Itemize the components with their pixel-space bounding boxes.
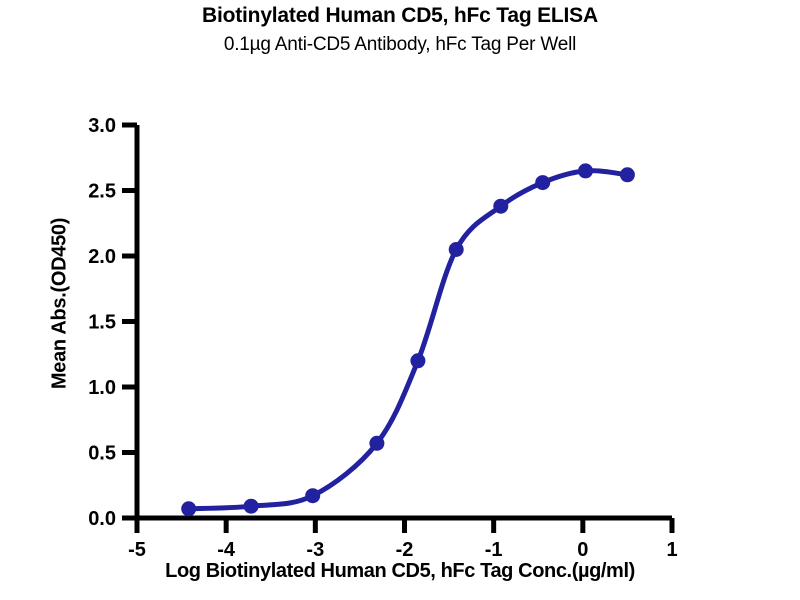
- x-axis-ticks: -5-4-3-2-101: [128, 518, 677, 561]
- x-tick-label: -1: [485, 539, 503, 561]
- data-point: [578, 163, 593, 178]
- y-axis-ticks: 0.00.51.01.52.02.53.0: [88, 115, 137, 530]
- data-point: [369, 436, 384, 451]
- data-point: [244, 499, 259, 514]
- y-tick-label: 2.5: [88, 181, 116, 203]
- data-points: [181, 163, 635, 516]
- fit-curve: [189, 171, 628, 509]
- y-tick-label: 0.5: [88, 443, 116, 465]
- x-tick-label: -2: [396, 539, 414, 561]
- data-point: [620, 167, 635, 182]
- data-point: [410, 353, 425, 368]
- data-point: [535, 175, 550, 190]
- x-tick-label: -4: [217, 539, 236, 561]
- x-tick-label: -3: [306, 539, 324, 561]
- y-tick-label: 0.0: [88, 508, 116, 530]
- data-point: [181, 501, 196, 516]
- data-point: [449, 242, 464, 257]
- y-tick-label: 3.0: [88, 115, 116, 137]
- elisa-chart: Biotinylated Human CD5, hFc Tag ELISA 0.…: [0, 0, 800, 600]
- plot-area: 0.00.51.01.52.02.53.0 -5-4-3-2-101: [0, 0, 800, 600]
- data-point: [493, 199, 508, 214]
- x-tick-label: 0: [577, 539, 588, 561]
- y-tick-label: 2.0: [88, 246, 116, 268]
- y-tick-label: 1.0: [88, 377, 116, 399]
- x-tick-label: 1: [666, 539, 677, 561]
- x-tick-label: -5: [128, 539, 146, 561]
- data-point: [305, 488, 320, 503]
- y-tick-label: 1.5: [88, 312, 116, 334]
